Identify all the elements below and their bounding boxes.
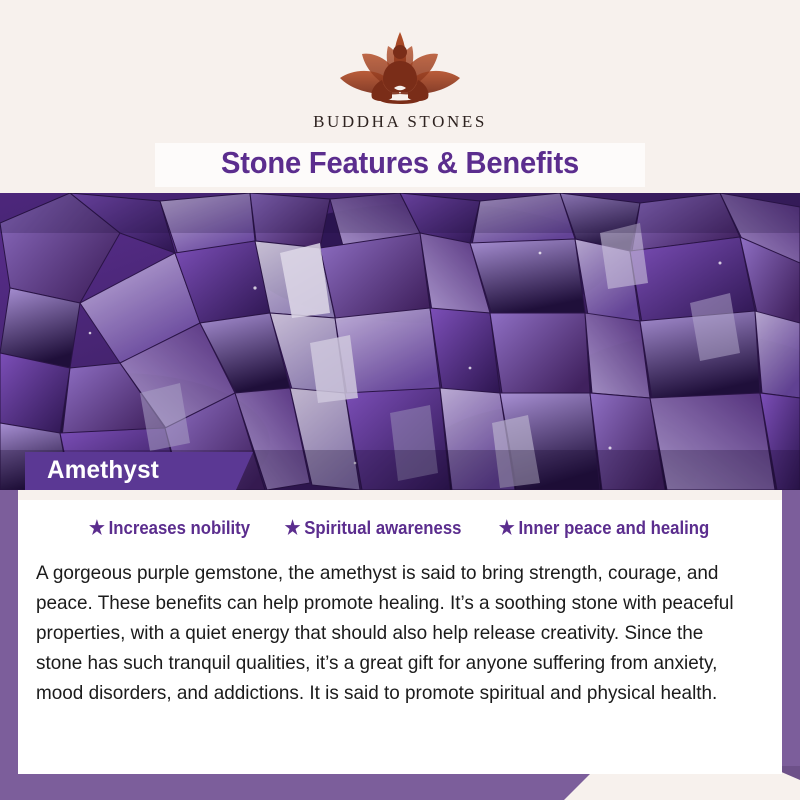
star-icon: ★ bbox=[498, 519, 514, 538]
header: BUDDHA STONES Stone Features & Benefits bbox=[0, 0, 800, 193]
photo-content-divider bbox=[18, 490, 782, 500]
benefit-item-3: ★ Inner peace and healing bbox=[498, 518, 708, 539]
benefit-item-1: ★ Increases nobility bbox=[89, 518, 250, 539]
benefit-item-2: ★ Spiritual awareness bbox=[285, 518, 462, 539]
brand-logo: BUDDHA STONES bbox=[0, 22, 800, 132]
page-title: Stone Features & Benefits bbox=[24, 145, 776, 181]
benefits-list: ★ Increases nobility ★ Spiritual awarene… bbox=[18, 518, 782, 539]
amethyst-crystal-cluster-illustration bbox=[0, 193, 800, 490]
brand-name: BUDDHA STONES bbox=[0, 112, 800, 132]
poster: BUDDHA STONES Stone Features & Benefits bbox=[0, 0, 800, 800]
stone-description: A gorgeous purple gemstone, the amethyst… bbox=[36, 558, 744, 708]
stone-name: Amethyst bbox=[47, 456, 159, 485]
star-icon: ★ bbox=[89, 519, 105, 538]
benefit-label: Inner peace and healing bbox=[518, 518, 709, 539]
lotus-meditation-figure-logo-icon bbox=[318, 22, 482, 110]
frame-bottom-band bbox=[0, 774, 590, 800]
star-icon: ★ bbox=[285, 519, 301, 538]
benefit-label: Spiritual awareness bbox=[305, 518, 462, 539]
benefit-label: Increases nobility bbox=[109, 518, 250, 539]
amethyst-photo bbox=[0, 193, 800, 490]
frame-right-strip-foot bbox=[782, 766, 800, 780]
